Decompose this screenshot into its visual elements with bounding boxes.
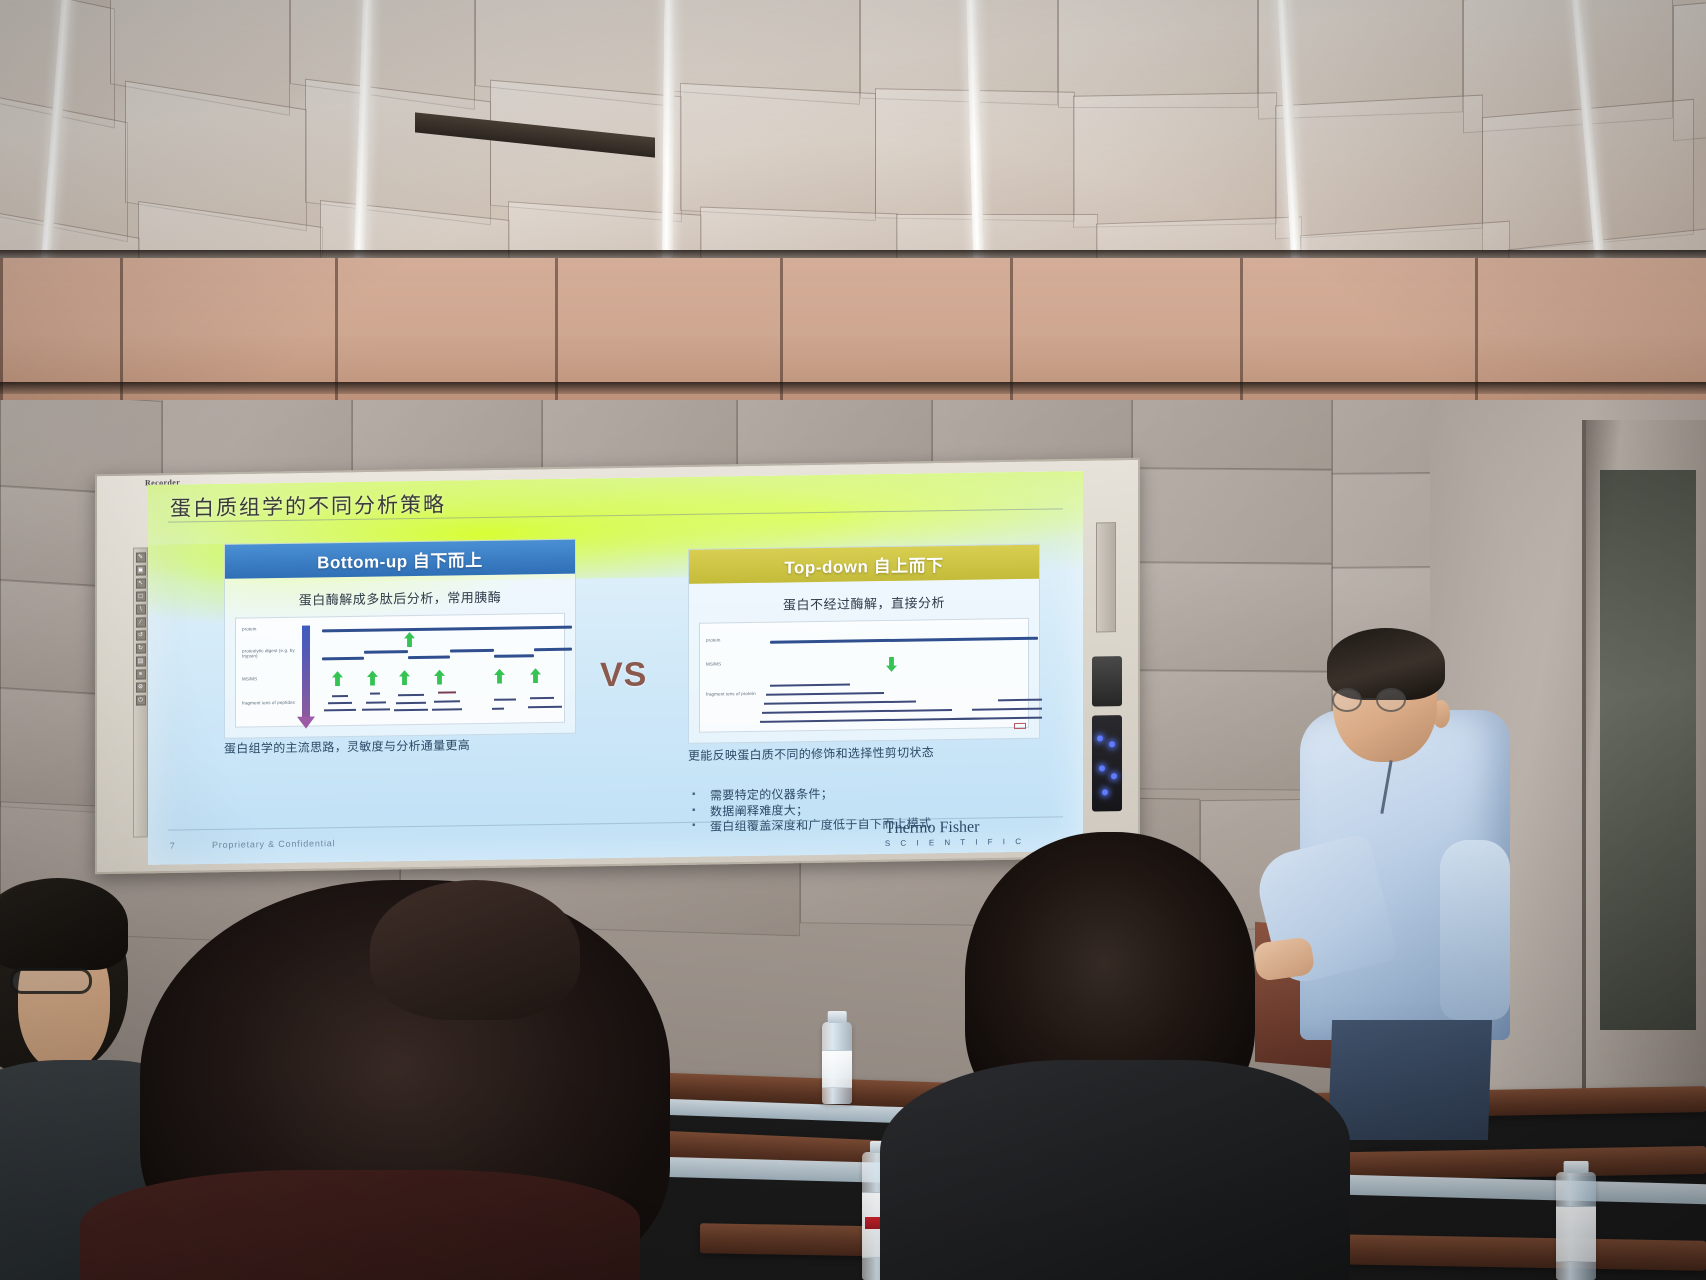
redo-icon[interactable]: ↻ xyxy=(136,643,146,653)
slide-page-number: 7 xyxy=(170,841,175,851)
door-glass xyxy=(1600,470,1696,1030)
presenter-glasses xyxy=(1332,688,1408,712)
bottom-up-footnote: 蛋白组学的主流思路，灵敏度与分析通量更高 xyxy=(224,737,576,757)
diagram-label-fragments: fragment ions of peptides xyxy=(242,700,298,706)
top-down-diagram: protein MS/MS fragment ions of protein xyxy=(699,618,1029,733)
top-down-header: Top-down 自上而下 xyxy=(689,545,1039,584)
diagram-label-protein: protein xyxy=(242,626,256,631)
logo-tagline: S C I E N T I F I C xyxy=(885,837,1025,848)
diagram-label-msms: MS/MS xyxy=(242,676,257,681)
audience-member-hair xyxy=(370,880,580,1020)
projected-slide: 蛋白质组学的不同分析策略 Bottom-up 自下而上 蛋白酶解成多肽后分析，常… xyxy=(148,471,1083,865)
process-arrow-down xyxy=(302,626,310,718)
highlighter-icon[interactable]: ∕ xyxy=(136,617,146,627)
bottom-up-panel: Bottom-up 自下而上 蛋白酶解成多肽后分析，常用胰酶 protein p… xyxy=(224,539,576,739)
ms-arrow-icon xyxy=(399,670,410,685)
ms-arrow-icon xyxy=(530,668,541,683)
top-down-panel: Top-down 自上而下 蛋白不经过酶解，直接分析 protein MS/MS… xyxy=(688,544,1040,744)
line-icon[interactable]: ∖ xyxy=(136,604,146,614)
water-bottle xyxy=(1556,1172,1596,1280)
ms-arrow-icon xyxy=(332,671,343,686)
audience-member-hair xyxy=(0,878,128,970)
water-bottle xyxy=(822,1022,852,1104)
bottle-cap xyxy=(1564,1161,1589,1173)
photo-scene: Recorder ✎ ▣ ↖ ◻ ∖ ∕ ↺ ↻ ▤ ≡ ⚙ ⏻ 蛋白质组学的不… xyxy=(0,0,1706,1280)
diagram-label-fragments: fragment ions of protein xyxy=(706,691,758,697)
whiteboard-tool-strip[interactable]: ✎ ▣ ↖ ◻ ∖ ∕ ↺ ↻ ▤ ≡ ⚙ ⏻ xyxy=(133,547,148,837)
ms-arrow-icon xyxy=(367,671,378,686)
audience-member-shoulders xyxy=(80,1170,640,1280)
whiteboard-indicator-panel[interactable] xyxy=(1092,715,1122,811)
menu-icon[interactable]: ≡ xyxy=(136,669,146,679)
whiteboard-side-tray[interactable] xyxy=(1096,522,1116,632)
whiteboard-speaker xyxy=(1092,656,1122,706)
ms-arrow-icon xyxy=(494,669,505,684)
ms-arrow-icon xyxy=(886,657,897,672)
pen-icon[interactable]: ✎ xyxy=(136,552,146,562)
diagram-label-msms: MS/MS xyxy=(706,661,721,666)
top-down-subtitle: 蛋白不经过酶解，直接分析 xyxy=(689,579,1039,623)
bottom-up-header: Bottom-up 自下而上 xyxy=(225,540,575,579)
bottom-up-subtitle: 蛋白酶解成多肽后分析，常用胰酶 xyxy=(225,574,575,618)
bottle-cap xyxy=(828,1011,847,1023)
select-icon[interactable]: ↖ xyxy=(136,578,146,588)
confidential-notice: Proprietary & Confidential xyxy=(212,838,335,850)
presenter-trousers xyxy=(1328,1020,1492,1140)
shape-icon[interactable]: ◻ xyxy=(136,591,146,601)
slide-title: 蛋白质组学的不同分析策略 xyxy=(170,489,446,523)
settings-icon[interactable]: ⚙ xyxy=(136,682,146,692)
ms-arrow-icon xyxy=(434,670,445,685)
thermo-fisher-logo: Thermo Fisher S C I E N T I F I C xyxy=(885,818,1025,848)
audience-member-shoulders xyxy=(880,1060,1350,1280)
audience-member-glasses xyxy=(10,968,92,994)
vs-label: VS xyxy=(600,656,647,696)
bottom-up-diagram: protein proteolytic digest (e.g. by tryp… xyxy=(235,613,565,728)
diagram-label-protein: protein xyxy=(706,637,720,642)
presenter-right-arm xyxy=(1440,840,1510,1020)
wall-band-shadow xyxy=(0,382,1706,394)
bottle-label xyxy=(1556,1206,1596,1262)
diagram-label-digest: proteolytic digest (e.g. by trypsin) xyxy=(242,648,298,659)
logo-name: Thermo Fisher xyxy=(885,818,1025,838)
undo-icon[interactable]: ↺ xyxy=(136,630,146,640)
bottle-label xyxy=(822,1050,852,1088)
ms-arrow-icon xyxy=(404,632,415,647)
save-icon[interactable]: ▤ xyxy=(136,656,146,666)
eraser-icon[interactable]: ▣ xyxy=(136,565,146,575)
top-down-footnote: 更能反映蛋白质不同的修饰和选择性剪切状态 xyxy=(688,744,1040,764)
power-icon[interactable]: ⏻ xyxy=(136,695,146,705)
